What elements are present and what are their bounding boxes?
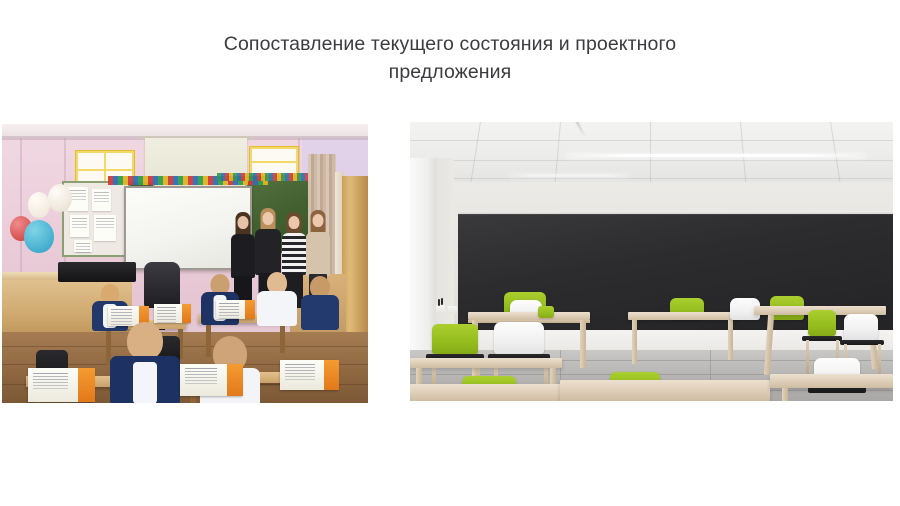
existing-classroom-scene [2,124,368,403]
wall-seam [20,138,22,288]
open-textbook [154,304,190,323]
proposed-classroom-scene [410,122,893,401]
pen-holder [448,306,457,314]
balloon [48,184,72,212]
linear-led-light [510,174,630,177]
chair-white [844,314,878,340]
desk-table [410,358,562,368]
open-textbook [216,300,254,319]
desk-table-foreground [770,374,893,388]
classroom-equipment [58,262,136,282]
desk-table-foreground [560,380,770,401]
paper-display-board [62,181,130,257]
pen-holder [436,305,445,314]
chair-white [494,322,544,354]
suspended-ceiling [410,122,893,184]
page-title: Сопоставление текущего состояния и проек… [148,30,752,86]
open-textbook [280,360,338,390]
chair-green-accent [538,306,554,318]
office-chair [144,262,180,308]
photo-proposed-classroom [410,122,893,401]
open-textbook [28,368,94,402]
chair-green [808,310,836,336]
desk-table [628,312,738,320]
linear-led-light [566,154,866,157]
balloon [24,220,54,253]
open-textbook [180,364,242,396]
seated-pupil-foreground [108,322,182,403]
slide-canvas: Сопоставление текущего состояния и проек… [0,0,900,506]
desk-table [468,312,590,320]
seated-pupil [254,272,300,326]
balloon [28,192,50,218]
chair-green [432,324,478,354]
alphabet-strip [217,173,309,181]
photo-existing-classroom [2,124,368,403]
seated-pupil [298,276,342,330]
